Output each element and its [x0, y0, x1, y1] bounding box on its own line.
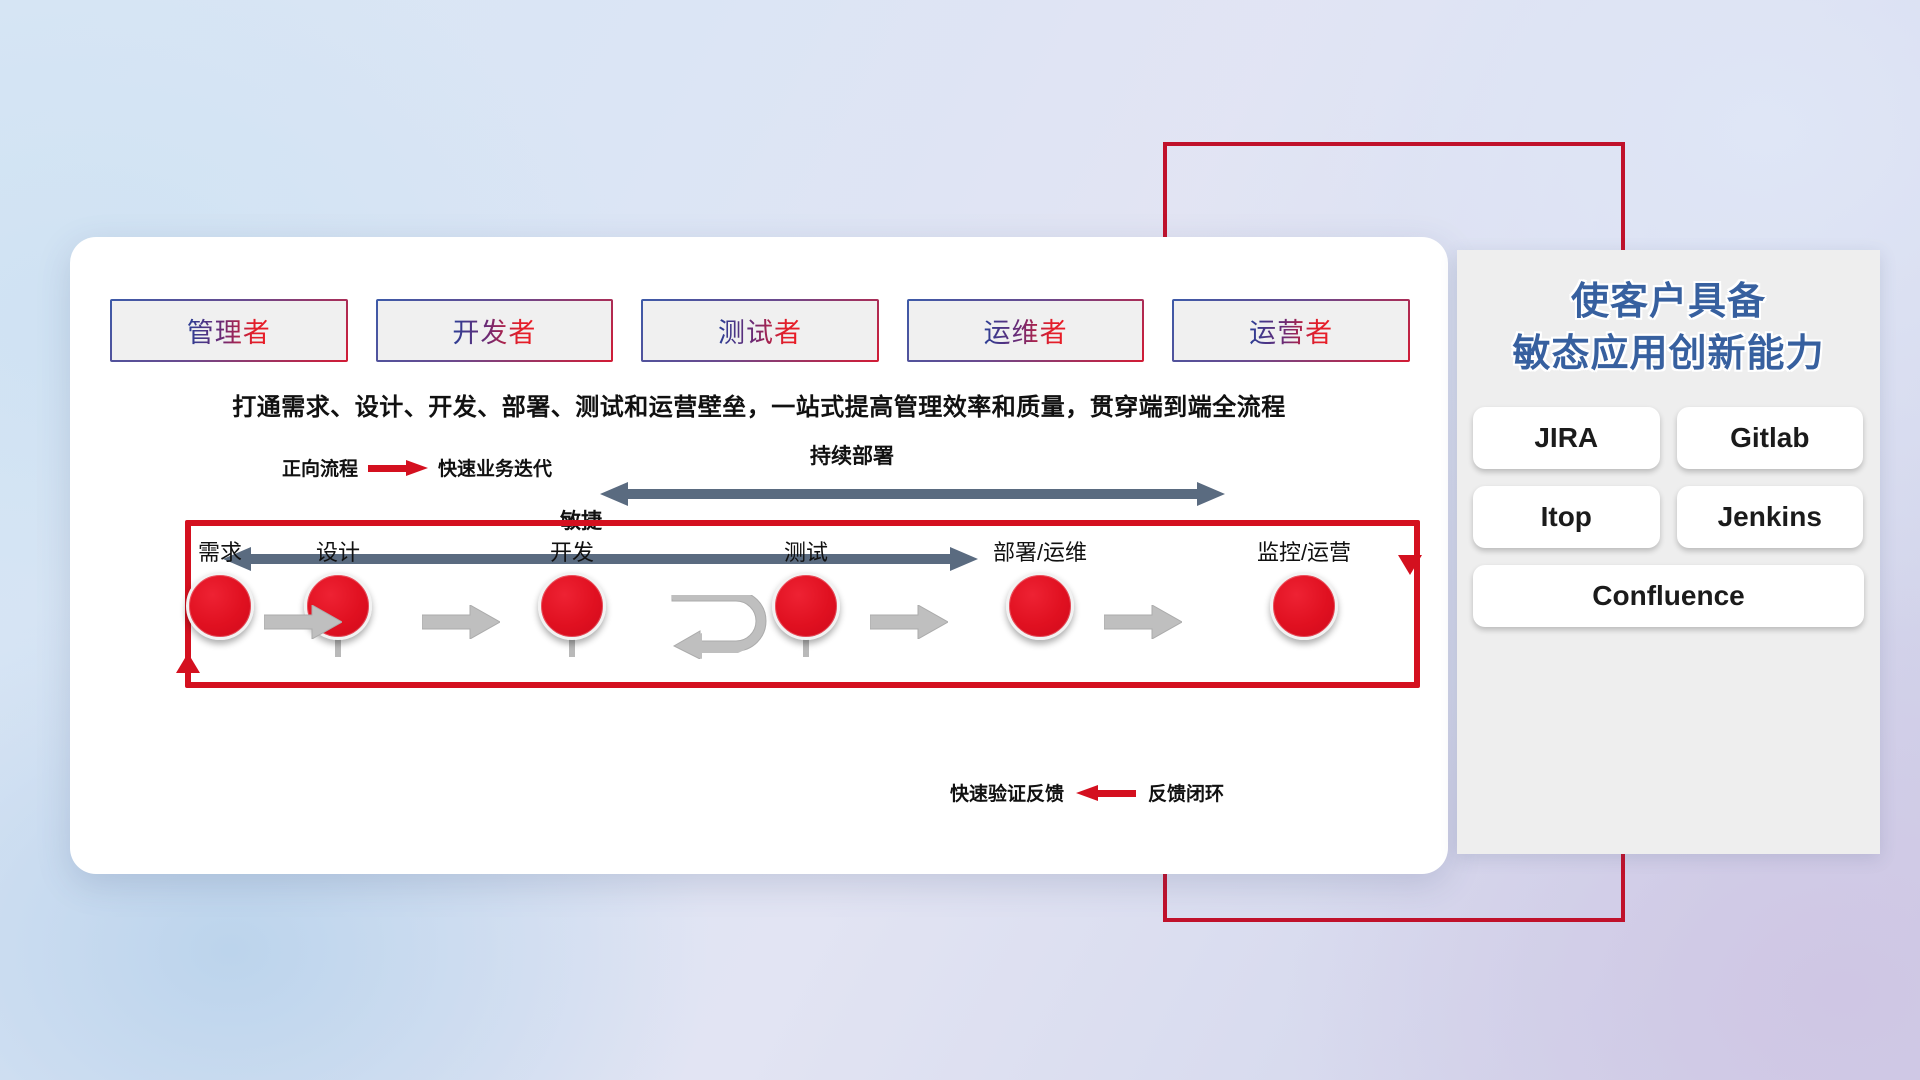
role-badge-label: 开发者 [452, 311, 536, 350]
pipeline-node-circle [186, 572, 254, 640]
role-badge-label: 运营者 [1249, 311, 1333, 350]
panel-title-line-2: 敏态应用创新能力 [1457, 328, 1880, 380]
red-left-arrow-icon [1076, 785, 1136, 801]
panel-title: 使客户具备 敏态应用创新能力 [1457, 250, 1880, 381]
pipeline-node-label: 开发 [522, 535, 622, 567]
legend-forward-flow: 正向流程 快速业务迭代 [282, 454, 552, 481]
legend-feedback-right-label: 反馈闭环 [1148, 779, 1224, 806]
role-badge-label: 测试者 [718, 311, 802, 350]
gray-arrow-requirement-to-design [264, 605, 342, 639]
tool-chip-grid: JIRA Gitlab Itop Jenkins Confluence [1473, 407, 1864, 627]
tool-chip-jira[interactable]: JIRA [1473, 407, 1660, 469]
panel-title-line-1: 使客户具备 [1457, 276, 1880, 328]
pipeline-node-circle [772, 572, 840, 640]
pipeline-node-monitor-operate[interactable]: 监控/运营 [1234, 535, 1374, 640]
main-content-card: 管理者 开发者 测试者 运维者 运营者 打通需求、设计、开发、部署、测试和运营壁… [70, 237, 1448, 874]
pipeline-node-label: 需求 [170, 535, 270, 567]
devops-pipeline: 需求 设计 开发 测试 部署/运维 监控/运营 [70, 557, 1448, 707]
pipeline-node-deploy-ops[interactable]: 部署/运维 [970, 535, 1110, 640]
gray-loop-arrow-develop-test [670, 595, 780, 659]
pipeline-node-label: 设计 [288, 535, 388, 567]
pipeline-node-label: 测试 [756, 535, 856, 567]
legend-feedback-loop: 快速验证反馈 反馈闭环 [950, 779, 1224, 806]
tool-chip-gitlab[interactable]: Gitlab [1677, 407, 1864, 469]
legend-forward-left-label: 正向流程 [282, 454, 358, 481]
role-badge-developer[interactable]: 开发者 [376, 299, 614, 362]
span-label-continuous-deployment: 持续部署 [810, 440, 894, 470]
double-arrow-continuous-deployment [600, 482, 1225, 506]
role-badge-manager[interactable]: 管理者 [110, 299, 348, 362]
value-proposition-panel: 使客户具备 敏态应用创新能力 JIRA Gitlab Itop Jenkins … [1457, 250, 1880, 854]
pipeline-node-label: 部署/运维 [970, 535, 1110, 567]
red-right-arrow-icon [368, 460, 428, 476]
role-badge-label: 运维者 [984, 311, 1068, 350]
gray-arrow-deploy-to-monitor [1104, 605, 1182, 639]
pipeline-node-label: 监控/运营 [1234, 535, 1374, 567]
pipeline-node-develop[interactable]: 开发 [522, 535, 622, 640]
pipeline-node-requirement[interactable]: 需求 [170, 535, 270, 640]
role-badge-business[interactable]: 运营者 [1172, 299, 1410, 362]
role-badge-tester[interactable]: 测试者 [641, 299, 879, 362]
tool-chip-jenkins[interactable]: Jenkins [1677, 486, 1864, 548]
card-description: 打通需求、设计、开发、部署、测试和运营壁垒，一站式提高管理效率和质量，贯穿端到端… [70, 387, 1448, 422]
role-badge-label: 管理者 [187, 311, 271, 350]
tool-chip-confluence[interactable]: Confluence [1473, 565, 1864, 627]
pipeline-node-circle [1006, 572, 1074, 640]
role-badge-operations[interactable]: 运维者 [907, 299, 1145, 362]
legend-feedback-left-label: 快速验证反馈 [950, 779, 1064, 806]
gray-arrow-test-to-deploy [870, 605, 948, 639]
gray-arrow-design-to-develop [422, 605, 500, 639]
role-badge-row: 管理者 开发者 测试者 运维者 运营者 [110, 299, 1410, 362]
tool-chip-itop[interactable]: Itop [1473, 486, 1660, 548]
pipeline-node-circle [1270, 572, 1338, 640]
legend-forward-right-label: 快速业务迭代 [438, 454, 552, 481]
pipeline-node-circle [538, 572, 606, 640]
